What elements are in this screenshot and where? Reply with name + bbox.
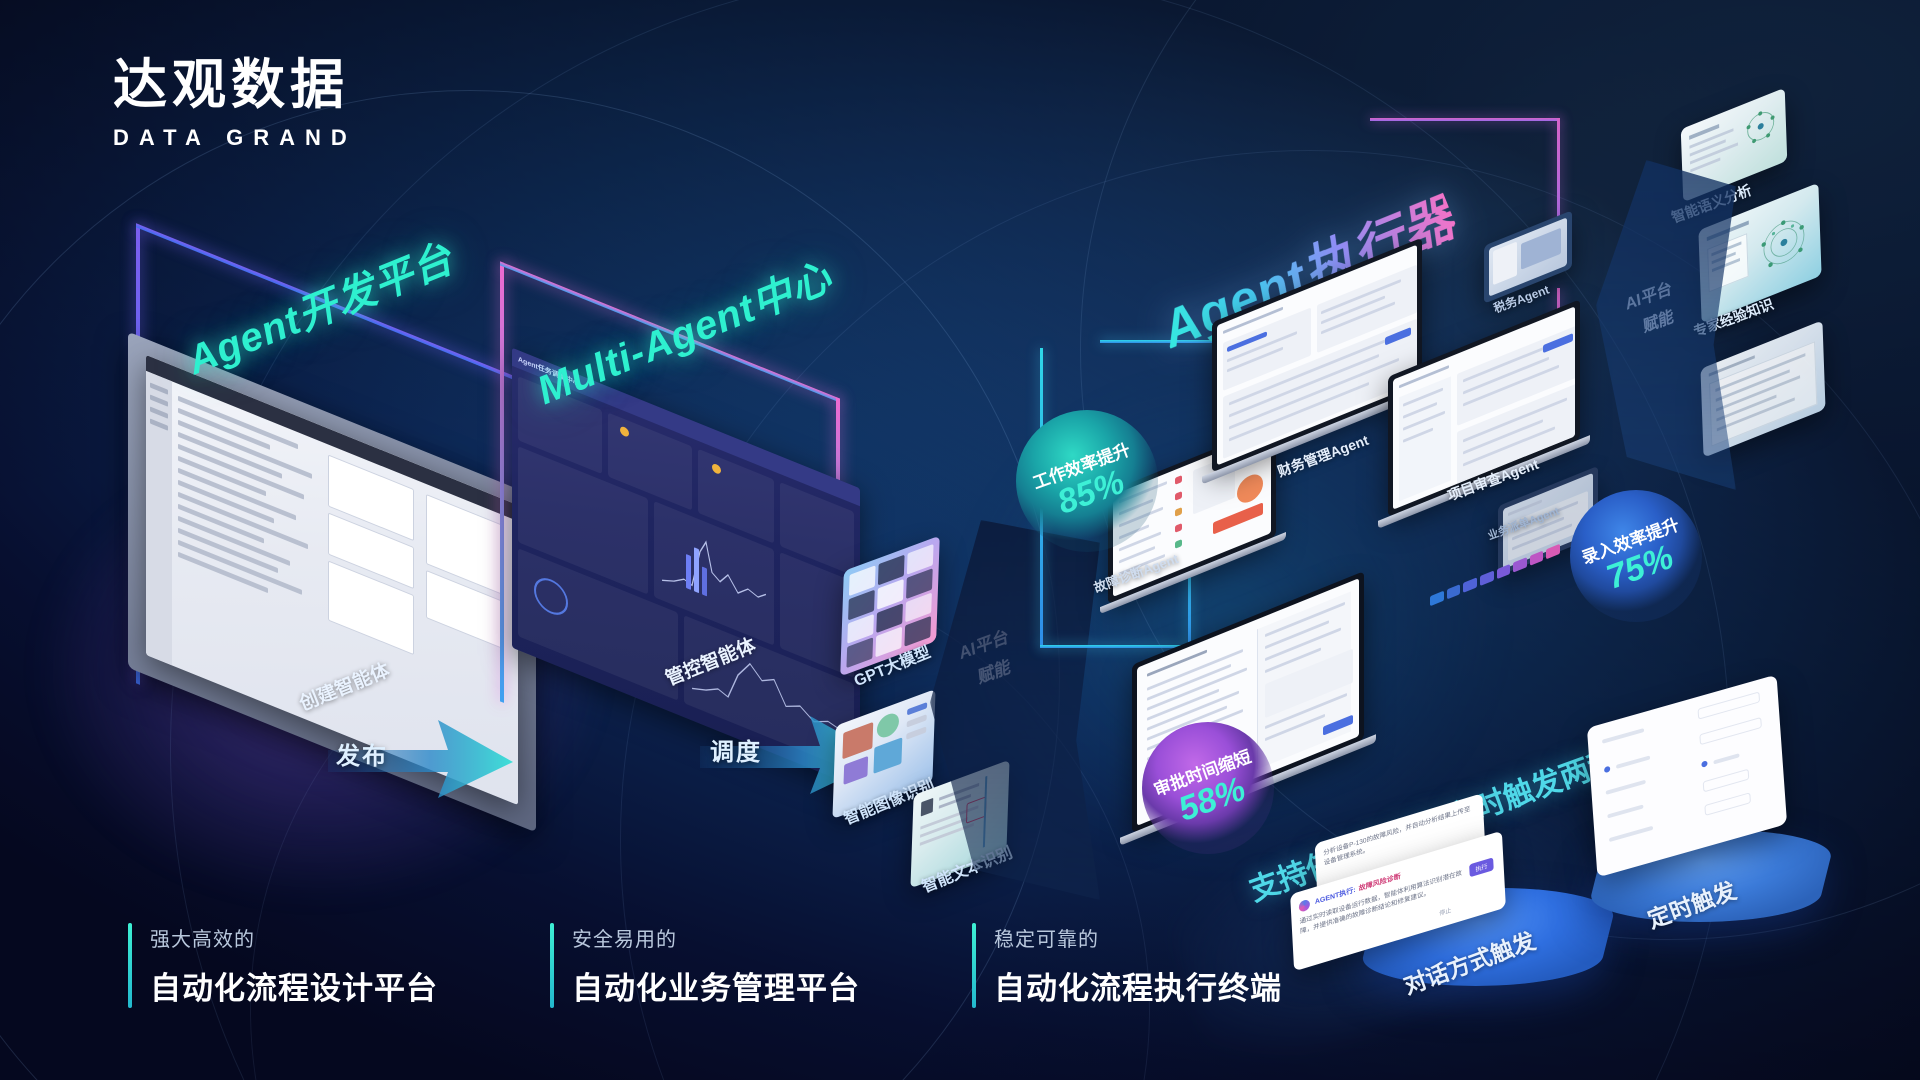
- caption-title: 自动化流程执行终端: [994, 963, 1282, 1008]
- brand-name-en: DATA GRAND: [113, 125, 357, 151]
- caption-accent-bar: [128, 923, 132, 1008]
- stat-bubble-entry: 录入效率提升 75%: [1570, 490, 1702, 622]
- flow-arrow-publish-label: 发布: [336, 736, 388, 771]
- caption-subtitle: 强大高效的: [150, 923, 438, 952]
- caption-item-business-platform: 安全易用的 自动化业务管理平台: [550, 923, 860, 1008]
- brand-logo: 达观数据 DATA GRAND: [113, 58, 357, 151]
- infographic-canvas: 达观数据 DATA GRAND Agent开发平台: [0, 0, 1920, 1080]
- caption-title: 自动化业务管理平台: [572, 963, 860, 1008]
- caption-accent-bar: [972, 923, 976, 1008]
- caption-subtitle: 安全易用的: [572, 923, 860, 952]
- stat-bubble-approval: 审批时间缩短 58%: [1142, 722, 1274, 854]
- chat-execute-button[interactable]: 执行: [1469, 857, 1494, 877]
- caption-item-design-platform: 强大高效的 自动化流程设计平台: [128, 923, 438, 1008]
- flow-arrow-schedule-label: 调度: [710, 732, 762, 767]
- bottom-captions: 强大高效的 自动化流程设计平台 安全易用的 自动化业务管理平台 稳定可靠的 自动…: [128, 923, 1282, 1008]
- brand-name-cn: 达观数据: [113, 58, 357, 112]
- chat-stop-label[interactable]: 停止: [1439, 905, 1451, 917]
- stat-bubble-efficiency: 工作效率提升 85%: [1016, 410, 1158, 552]
- caption-item-execution-terminal: 稳定可靠的 自动化流程执行终端: [972, 923, 1282, 1008]
- caption-title: 自动化流程设计平台: [150, 963, 438, 1008]
- agent-avatar-icon: [1299, 899, 1311, 913]
- caption-accent-bar: [550, 923, 554, 1008]
- caption-subtitle: 稳定可靠的: [994, 923, 1282, 952]
